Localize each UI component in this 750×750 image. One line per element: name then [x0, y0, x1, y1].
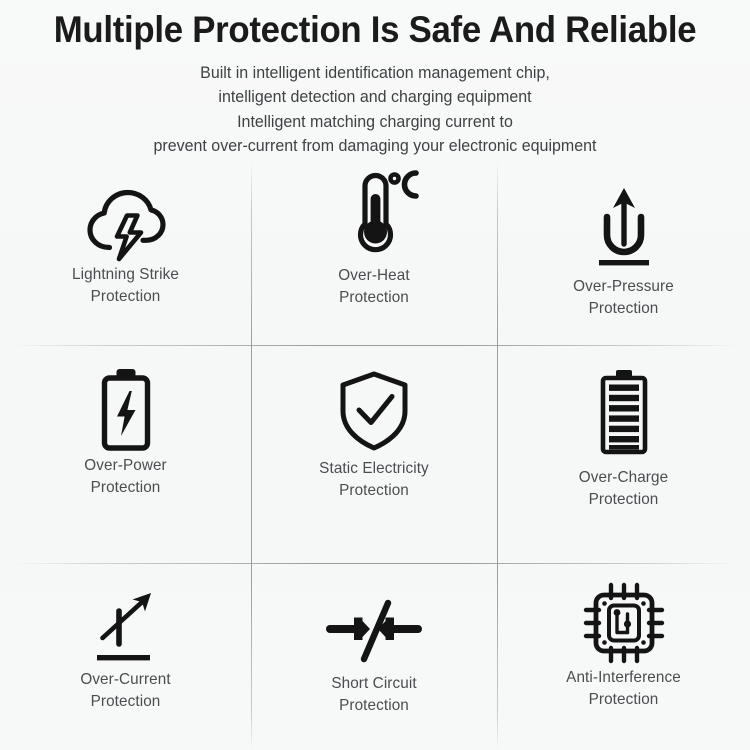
feature-label-anti-interference: Anti-Interference Protection: [500, 667, 748, 711]
thermometer-celsius-icon: [251, 164, 497, 264]
feature-label-line2: Protection: [3, 477, 249, 499]
feature-cell-lightning-strike[interactable]: Lightning Strike Protection: [0, 162, 251, 345]
feature-label-line1: Lightning Strike: [72, 266, 179, 283]
feature-label-line1: Static Electricity: [319, 460, 429, 477]
feature-label-line2: Protection: [3, 286, 249, 308]
protection-features-page: Multiple Protection Is Safe And Reliable…: [0, 0, 750, 750]
page-subtitle: Built in intelligent identification mana…: [11, 52, 739, 159]
feature-label-over-power: Over-Power Protection: [3, 455, 249, 499]
feature-label-short-circuit: Short Circuit Protection: [253, 673, 494, 717]
cloud-lightning-icon: [0, 182, 251, 266]
feature-label-line2: Protection: [500, 489, 748, 511]
feature-cell-over-current[interactable]: Over-Current Protection: [0, 563, 251, 750]
feature-label-static-electricity: Static Electricity Protection: [253, 458, 494, 502]
feature-cell-over-charge[interactable]: Over-Charge Protection: [497, 345, 750, 563]
up-arrow-u-bar-icon: [497, 186, 750, 270]
feature-label-line1: Over-Charge: [579, 469, 668, 486]
feature-label-lightning-strike: Lightning Strike Protection: [3, 264, 249, 308]
subtitle-line-2: intelligent detection and charging equip…: [11, 85, 739, 110]
subtitle-line-1: Built in intelligent identification mana…: [11, 61, 739, 86]
feature-label-over-heat: Over-Heat Protection: [253, 265, 494, 309]
feature-label-line2: Protection: [500, 298, 748, 320]
feature-cell-static-electricity[interactable]: Static Electricity Protection: [251, 345, 497, 563]
feature-label-line2: Protection: [253, 695, 494, 717]
feature-label-line2: Protection: [253, 480, 494, 502]
subtitle-line-3: Intelligent matching charging current to: [11, 110, 739, 135]
feature-label-over-charge: Over-Charge Protection: [500, 467, 748, 511]
shield-check-icon: [251, 369, 497, 453]
feature-cell-anti-interference[interactable]: Anti-Interference Protection: [497, 563, 750, 750]
feature-label-line1: Short Circuit: [331, 675, 416, 692]
feature-label-line1: Over-Heat: [338, 267, 409, 284]
feature-label-line2: Protection: [500, 689, 748, 711]
feature-label-line1: Anti-Interference: [566, 669, 681, 686]
feature-label-line1: Over-Pressure: [573, 278, 674, 295]
feature-cell-short-circuit[interactable]: Short Circuit Protection: [251, 563, 497, 750]
subtitle-line-4: prevent over-current from damaging your …: [11, 134, 739, 159]
header: Multiple Protection Is Safe And Reliable…: [0, 0, 750, 159]
feature-label-line1: Over-Current: [80, 671, 170, 688]
battery-bolt-icon: [0, 365, 251, 455]
feature-label-line1: Over-Power: [84, 457, 167, 474]
microchip-icon: [497, 587, 750, 665]
page-title: Multiple Protection Is Safe And Reliable: [23, 0, 728, 52]
feature-cell-over-heat[interactable]: Over-Heat Protection: [251, 162, 497, 345]
rising-arrow-bar-icon: [0, 589, 251, 667]
opposing-arrows-slash-icon: [251, 597, 497, 667]
feature-cell-over-pressure[interactable]: Over-Pressure Protection: [497, 162, 750, 345]
feature-cell-over-power[interactable]: Over-Power Protection: [0, 345, 251, 563]
feature-label-line2: Protection: [253, 287, 494, 309]
feature-grid: Lightning Strike Protection: [0, 162, 750, 750]
feature-label-line2: Protection: [3, 691, 249, 713]
feature-label-over-pressure: Over-Pressure Protection: [500, 276, 748, 320]
battery-full-bars-icon: [497, 367, 750, 459]
feature-label-over-current: Over-Current Protection: [3, 669, 249, 713]
